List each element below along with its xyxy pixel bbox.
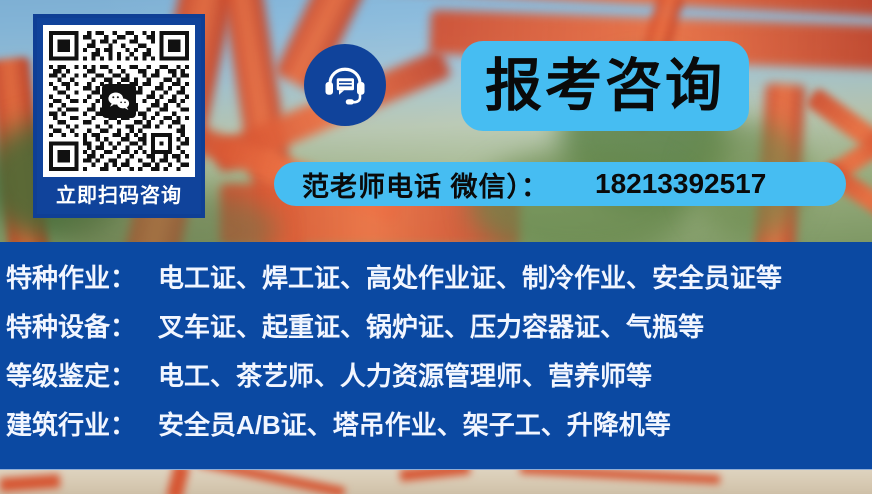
wechat-glyph bbox=[106, 88, 132, 114]
page-title: 报考咨询 bbox=[485, 58, 725, 115]
category-items: 安全员A/B证、塔吊作业、架子工、升降机等 bbox=[158, 405, 671, 442]
category-items: 电工证、焊工证、高处作业证、制冷作业、安全员证等 bbox=[158, 258, 782, 295]
qr-code[interactable] bbox=[43, 25, 195, 177]
contact-label: 范老师电话 微信）： bbox=[302, 165, 549, 204]
list-item: 建筑行业： 安全员A/B证、塔吊作业、架子工、升降机等 bbox=[6, 405, 872, 454]
contact-pill[interactable]: 范老师电话 微信）： 18213392517 bbox=[274, 162, 846, 206]
headset-support-icon bbox=[321, 61, 369, 109]
category-label: 特种设备： bbox=[6, 307, 158, 344]
list-item: 特种作业： 电工证、焊工证、高处作业证、制冷作业、安全员证等 bbox=[6, 258, 872, 307]
title-pill: 报考咨询 bbox=[461, 41, 749, 131]
list-item: 特种设备： 叉车证、起重证、锅炉证、压力容器证、气瓶等 bbox=[6, 307, 872, 356]
list-item: 等级鉴定： 电工、茶艺师、人力资源管理师、营养师等 bbox=[6, 356, 872, 405]
headset-badge bbox=[304, 44, 386, 126]
category-label: 等级鉴定： bbox=[6, 356, 158, 393]
category-label: 建筑行业： bbox=[6, 405, 158, 442]
contact-phone-number[interactable]: 18213392517 bbox=[595, 168, 766, 200]
category-items: 电工、茶艺师、人力资源管理师、营养师等 bbox=[158, 356, 652, 393]
qr-caption: 立即扫码咨询 bbox=[56, 186, 182, 206]
qr-panel[interactable]: 立即扫码咨询 bbox=[33, 14, 205, 218]
category-items: 叉车证、起重证、锅炉证、压力容器证、气瓶等 bbox=[158, 307, 704, 344]
promo-poster: 立即扫码咨询 报考咨询 范老师电话 微信）： 18213392517 特种作业：… bbox=[0, 0, 872, 494]
bottom-photo-strip bbox=[0, 470, 872, 494]
wechat-icon bbox=[102, 84, 136, 118]
certificate-list-band: 特种作业： 电工证、焊工证、高处作业证、制冷作业、安全员证等 特种设备： 叉车证… bbox=[0, 242, 872, 470]
category-label: 特种作业： bbox=[6, 258, 158, 295]
